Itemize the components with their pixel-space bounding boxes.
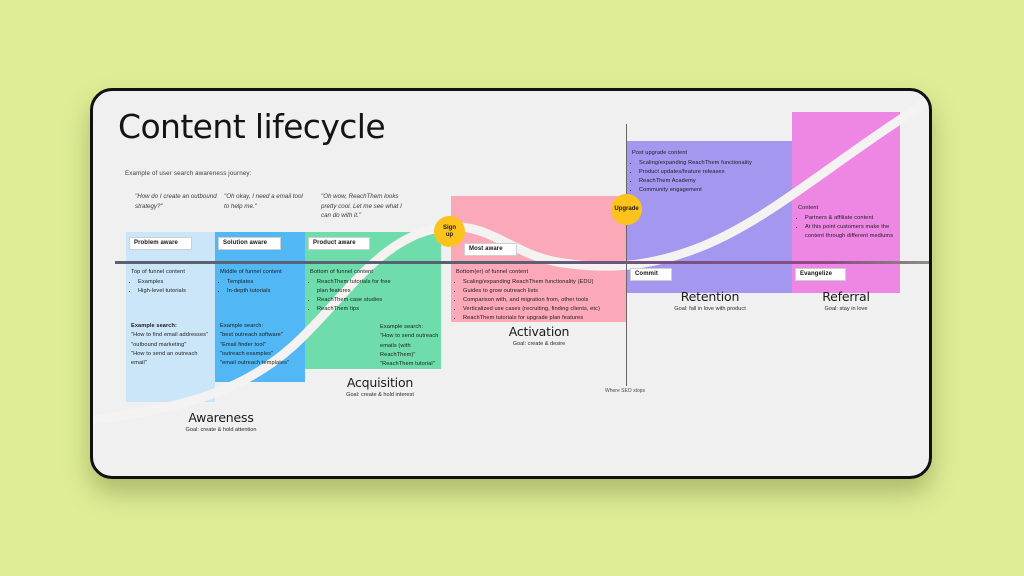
bullets-commit: Scaling/expanding ReachThem functionalit… [632,159,792,195]
search-product-aware: Example search: "How to send outreach em… [380,323,446,369]
stage-activation-goal: Goal: create & desire [476,341,602,347]
bullets-product-aware: ReachThem tutorials for free plan featur… [310,278,394,314]
stage-acquisition-goal: Goal: create & hold interest [315,392,445,398]
heading-solution-aware: Middle of funnel content [220,268,302,277]
stage-acquisition: Acquisition Goal: create & hold interest [315,375,445,398]
stage-awareness-name: Awareness [161,410,281,425]
content-problem-aware: Top of funnel content Examples High-leve… [131,268,211,296]
search-title-solution-aware: Example search: [220,323,263,329]
milestone-upgrade-label: Upgrade [614,206,638,213]
page-title: Content lifecycle [118,107,385,146]
heading-commit: Post upgrade content [632,149,792,158]
search-title-problem-aware: Example search: [131,323,177,329]
quote-solution-aware: "Oh okay, I need a email tool to help me… [224,192,306,211]
pill-most-aware[interactable]: Most aware [464,243,517,256]
search-solution-aware: Example search: "best outreach software"… [220,322,304,368]
milestone-upgrade[interactable]: Upgrade [611,194,642,225]
stage-retention-goal: Goal: fall in love with product [646,306,774,312]
stage-referral-goal: Goal: stay in love [791,306,901,312]
stage-awareness-goal: Goal: create & hold attention [161,427,281,433]
column-most-aware [451,196,627,271]
search-title-product-aware: Example search: [380,324,423,330]
timeline-axis [115,261,931,264]
heading-product-aware: Bottom of funnel content [310,268,394,277]
bullets-solution-aware: Templates In-depth tutorials [220,278,302,296]
screenshot-root: Content lifecycle Example of user search… [0,0,1024,576]
heading-most-aware: Bottom(er) of funnel content [456,268,628,277]
diagram-canvas: Content lifecycle Example of user search… [93,91,929,476]
stage-retention: Retention Goal: fall in love with produc… [646,289,774,312]
content-most-aware: Bottom(er) of funnel content Scaling/exp… [456,268,628,323]
bullets-problem-aware: Examples High-level tutorials [131,278,211,296]
milestone-sign-up-label: Signup [443,225,456,239]
heading-evangelize: Content [798,204,896,213]
stage-acquisition-name: Acquisition [315,375,445,390]
stage-activation-name: Activation [476,324,602,339]
quote-product-aware: "Oh wow, ReachThem looks pretty cool. Le… [321,192,411,221]
diagram-card: Content lifecycle Example of user search… [90,88,932,479]
content-product-aware: Bottom of funnel content ReachThem tutor… [310,268,394,314]
pill-product-aware[interactable]: Product aware [308,237,370,250]
bullets-most-aware: Scaling/expanding ReachThem functionalit… [456,278,628,323]
pill-solution-aware[interactable]: Solution aware [218,237,281,250]
pill-commit[interactable]: Commit [630,268,672,281]
seo-stop-label: Where SEO stops [605,388,645,394]
search-problem-aware: Example search: "How to find email addre… [131,322,211,368]
heading-problem-aware: Top of funnel content [131,268,211,277]
column-problem-aware [126,232,215,402]
content-solution-aware: Middle of funnel content Templates In-de… [220,268,302,296]
content-evangelize: Content Partners & affiliate content At … [798,204,896,241]
quote-problem-aware: "How do I create an outbound strategy?" [135,192,219,211]
bullets-evangelize: Partners & affiliate content At this poi… [798,214,896,241]
seo-divider-line [626,124,627,386]
milestone-sign-up[interactable]: Signup [434,216,465,247]
intro-label: Example of user search awareness journey… [125,170,252,177]
stage-awareness: Awareness Goal: create & hold attention [161,410,281,433]
pill-evangelize[interactable]: Evangelize [795,268,846,281]
content-commit: Post upgrade content Scaling/expanding R… [632,149,792,195]
stage-retention-name: Retention [646,289,774,304]
stage-referral-name: Referral [791,289,901,304]
stage-activation: Activation Goal: create & desire [476,324,602,347]
stage-referral: Referral Goal: stay in love [791,289,901,312]
pill-problem-aware[interactable]: Problem aware [129,237,192,250]
column-evangelize [792,112,900,272]
